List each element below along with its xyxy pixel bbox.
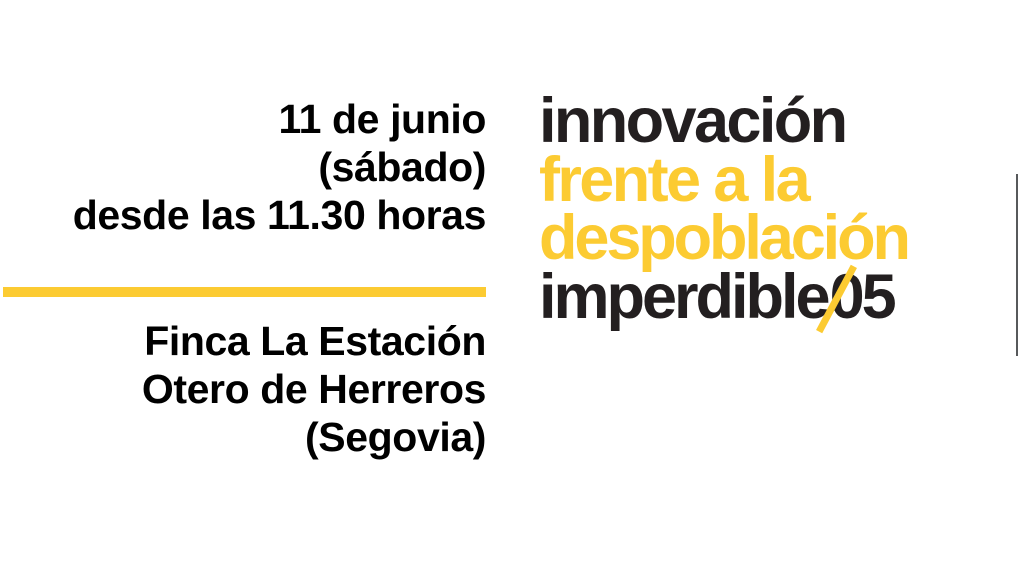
venue-name-line: Finca La Estación bbox=[0, 318, 486, 366]
logo-line-frente-a-la: frente a la bbox=[539, 151, 1024, 210]
event-venue-block: Finca La Estación Otero de Herreros (Seg… bbox=[0, 318, 486, 462]
event-date-block: 11 de junio (sábado) desde las 11.30 hor… bbox=[0, 96, 486, 240]
logo-line-innovacion: innovación bbox=[539, 92, 1024, 151]
logo-line-despoblacion: despoblación bbox=[539, 209, 1024, 268]
right-edge-rule bbox=[1016, 174, 1018, 356]
event-date-line-2: (sábado) bbox=[0, 144, 486, 192]
venue-province-line: (Segovia) bbox=[0, 414, 486, 462]
poster-canvas: 11 de junio (sábado) desde las 11.30 hor… bbox=[0, 0, 1024, 576]
logo-edition-value: 05 bbox=[830, 262, 894, 332]
logo-edition-number: 05 bbox=[830, 268, 894, 327]
logo-word-imperdible: imperdible bbox=[539, 262, 828, 332]
event-time-line: desde las 11.30 horas bbox=[0, 192, 486, 240]
imperdible-logo: innovación frente a la despoblación impe… bbox=[539, 92, 1024, 382]
logo-line-imperdible: imperdible05 bbox=[539, 268, 1024, 327]
accent-divider-rule bbox=[3, 287, 486, 297]
venue-town-line: Otero de Herreros bbox=[0, 366, 486, 414]
event-details-panel: 11 de junio (sábado) desde las 11.30 hor… bbox=[0, 0, 486, 576]
event-date-line-1: 11 de junio bbox=[0, 96, 486, 144]
